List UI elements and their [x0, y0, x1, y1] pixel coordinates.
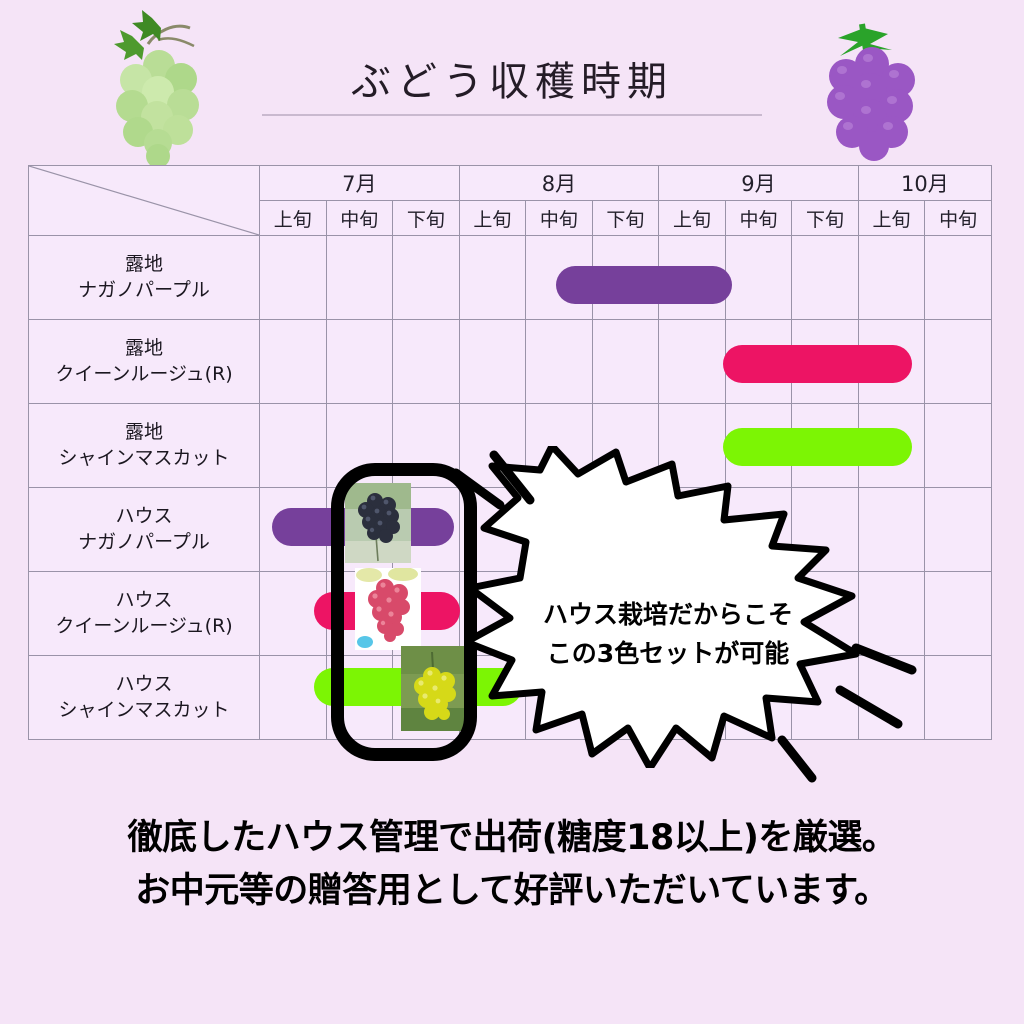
tenday-header-cell: 中旬 [725, 201, 792, 236]
schedule-cell [393, 404, 460, 488]
schedule-cell [792, 404, 859, 488]
table-corner-cell [29, 166, 260, 236]
schedule-cell [260, 656, 327, 740]
schedule-cell [725, 572, 792, 656]
schedule-cell [925, 236, 992, 320]
row-label: 露地ナガノパープル [29, 236, 260, 320]
schedule-cell [459, 404, 526, 488]
row-label-line-2: ナガノパープル [29, 278, 259, 303]
schedule-cell [725, 488, 792, 572]
row-label-line-1: ハウス [29, 504, 259, 529]
schedule-cell [326, 572, 393, 656]
schedule-cell [526, 572, 593, 656]
schedule-cell [659, 656, 726, 740]
schedule-body: 露地ナガノパープル露地クイーンルージュ(R)露地シャインマスカットハウスナガノパ… [29, 236, 992, 740]
row-label-line-1: 露地 [29, 252, 259, 277]
tenday-header-cell: 上旬 [459, 201, 526, 236]
table-row: 露地ナガノパープル [29, 236, 992, 320]
harvest-schedule-table: 7月 8月 9月 10月 上旬 中旬 下旬 上旬 中旬 下旬 上旬 中旬 下旬 … [28, 165, 992, 735]
row-label: ハウスナガノパープル [29, 488, 260, 572]
footer-line-2: お中元等の贈答用として好評いただいています。 [0, 865, 1024, 918]
schedule-cell [459, 488, 526, 572]
tenday-header-cell: 上旬 [260, 201, 327, 236]
schedule-cell [725, 404, 792, 488]
schedule-cell [526, 656, 593, 740]
title-divider [262, 114, 762, 116]
schedule-cell [592, 404, 659, 488]
row-label-line-1: 露地 [29, 420, 259, 445]
schedule-cell [326, 320, 393, 404]
row-label: 露地シャインマスカット [29, 404, 260, 488]
diagonal-divider-icon [29, 166, 259, 235]
row-label-line-1: ハウス [29, 588, 259, 613]
schedule-cell [792, 656, 859, 740]
schedule-cell [459, 236, 526, 320]
schedule-cell [326, 488, 393, 572]
tenday-header-cell: 下旬 [792, 201, 859, 236]
schedule-cell [858, 404, 925, 488]
schedule-cell [858, 572, 925, 656]
green-grape-cluster-icon [86, 6, 236, 166]
tenday-header-cell: 中旬 [526, 201, 593, 236]
row-label-line-1: 露地 [29, 336, 259, 361]
schedule-cell [326, 236, 393, 320]
row-label-line-2: シャインマスカット [29, 698, 259, 723]
schedule-cell [858, 320, 925, 404]
row-label-line-2: シャインマスカット [29, 446, 259, 471]
schedule-cell [659, 236, 726, 320]
schedule-cell [526, 320, 593, 404]
schedule-cell [858, 488, 925, 572]
tenday-header-cell: 上旬 [659, 201, 726, 236]
schedule-cell [393, 236, 460, 320]
row-label-line-1: ハウス [29, 672, 259, 697]
footer-copy: 徹底したハウス管理で出荷(糖度18以上)を厳選。 お中元等の贈答用として好評いた… [0, 812, 1024, 918]
table-row: 露地クイーンルージュ(R) [29, 320, 992, 404]
schedule-cell [326, 404, 393, 488]
schedule-cell [792, 488, 859, 572]
schedule-cell [659, 404, 726, 488]
tenday-header-cell: 下旬 [592, 201, 659, 236]
schedule-cell [393, 656, 460, 740]
schedule-cell [659, 488, 726, 572]
row-label-line-2: クイーンルージュ(R) [29, 614, 259, 639]
schedule-cell [393, 488, 460, 572]
schedule-cell [260, 320, 327, 404]
schedule-cell [526, 236, 593, 320]
schedule-cell [592, 236, 659, 320]
purple-grape-cluster-icon [806, 6, 946, 166]
poster-canvas: ぶどう収穫時期 7月 8月 9月 10月 上旬 [0, 0, 1024, 1024]
page-title-block: ぶどう収穫時期 [262, 58, 762, 116]
schedule-cell [260, 236, 327, 320]
schedule-cell [592, 656, 659, 740]
row-label: 露地クイーンルージュ(R) [29, 320, 260, 404]
schedule-cell [725, 656, 792, 740]
month-header-cell: 8月 [459, 166, 659, 201]
schedule-cell [326, 656, 393, 740]
schedule-cell [858, 236, 925, 320]
schedule-cell [526, 488, 593, 572]
footer-line-1: 徹底したハウス管理で出荷(糖度18以上)を厳選。 [0, 812, 1024, 865]
row-label-line-2: ナガノパープル [29, 530, 259, 555]
schedule-cell [925, 320, 992, 404]
schedule-cell [925, 404, 992, 488]
schedule-cell [260, 404, 327, 488]
schedule-cell [526, 404, 593, 488]
schedule-cell [925, 572, 992, 656]
schedule-cell [459, 572, 526, 656]
schedule-cell [260, 488, 327, 572]
schedule-cell [592, 488, 659, 572]
schedule-cell [260, 572, 327, 656]
month-header-cell: 7月 [260, 166, 460, 201]
schedule-cell [659, 572, 726, 656]
tenday-header-cell: 中旬 [326, 201, 393, 236]
schedule-cell [592, 572, 659, 656]
table-row: ハウスナガノパープル [29, 488, 992, 572]
schedule-cell [659, 320, 726, 404]
schedule-cell [925, 488, 992, 572]
schedule-cell [792, 572, 859, 656]
schedule-cell [858, 656, 925, 740]
month-header-row: 7月 8月 9月 10月 [29, 166, 992, 201]
page-title: ぶどう収穫時期 [262, 58, 762, 106]
schedule-cell [393, 320, 460, 404]
table-row: ハウスシャインマスカット [29, 656, 992, 740]
row-label: ハウスシャインマスカット [29, 656, 260, 740]
row-label-line-2: クイーンルージュ(R) [29, 362, 259, 387]
schedule-cell [725, 320, 792, 404]
schedule-cell [792, 320, 859, 404]
tenday-header-cell: 下旬 [393, 201, 460, 236]
schedule-cell [459, 320, 526, 404]
schedule-cell [459, 656, 526, 740]
month-header-cell: 10月 [858, 166, 991, 201]
month-header-cell: 9月 [659, 166, 859, 201]
schedule-cell [792, 236, 859, 320]
schedule-cell [393, 572, 460, 656]
table-row: ハウスクイーンルージュ(R) [29, 572, 992, 656]
schedule-cell [925, 656, 992, 740]
schedule-cell [592, 320, 659, 404]
table-row: 露地シャインマスカット [29, 404, 992, 488]
tenday-header-cell: 上旬 [858, 201, 925, 236]
row-label: ハウスクイーンルージュ(R) [29, 572, 260, 656]
tenday-header-cell: 中旬 [925, 201, 992, 236]
schedule-cell [725, 236, 792, 320]
